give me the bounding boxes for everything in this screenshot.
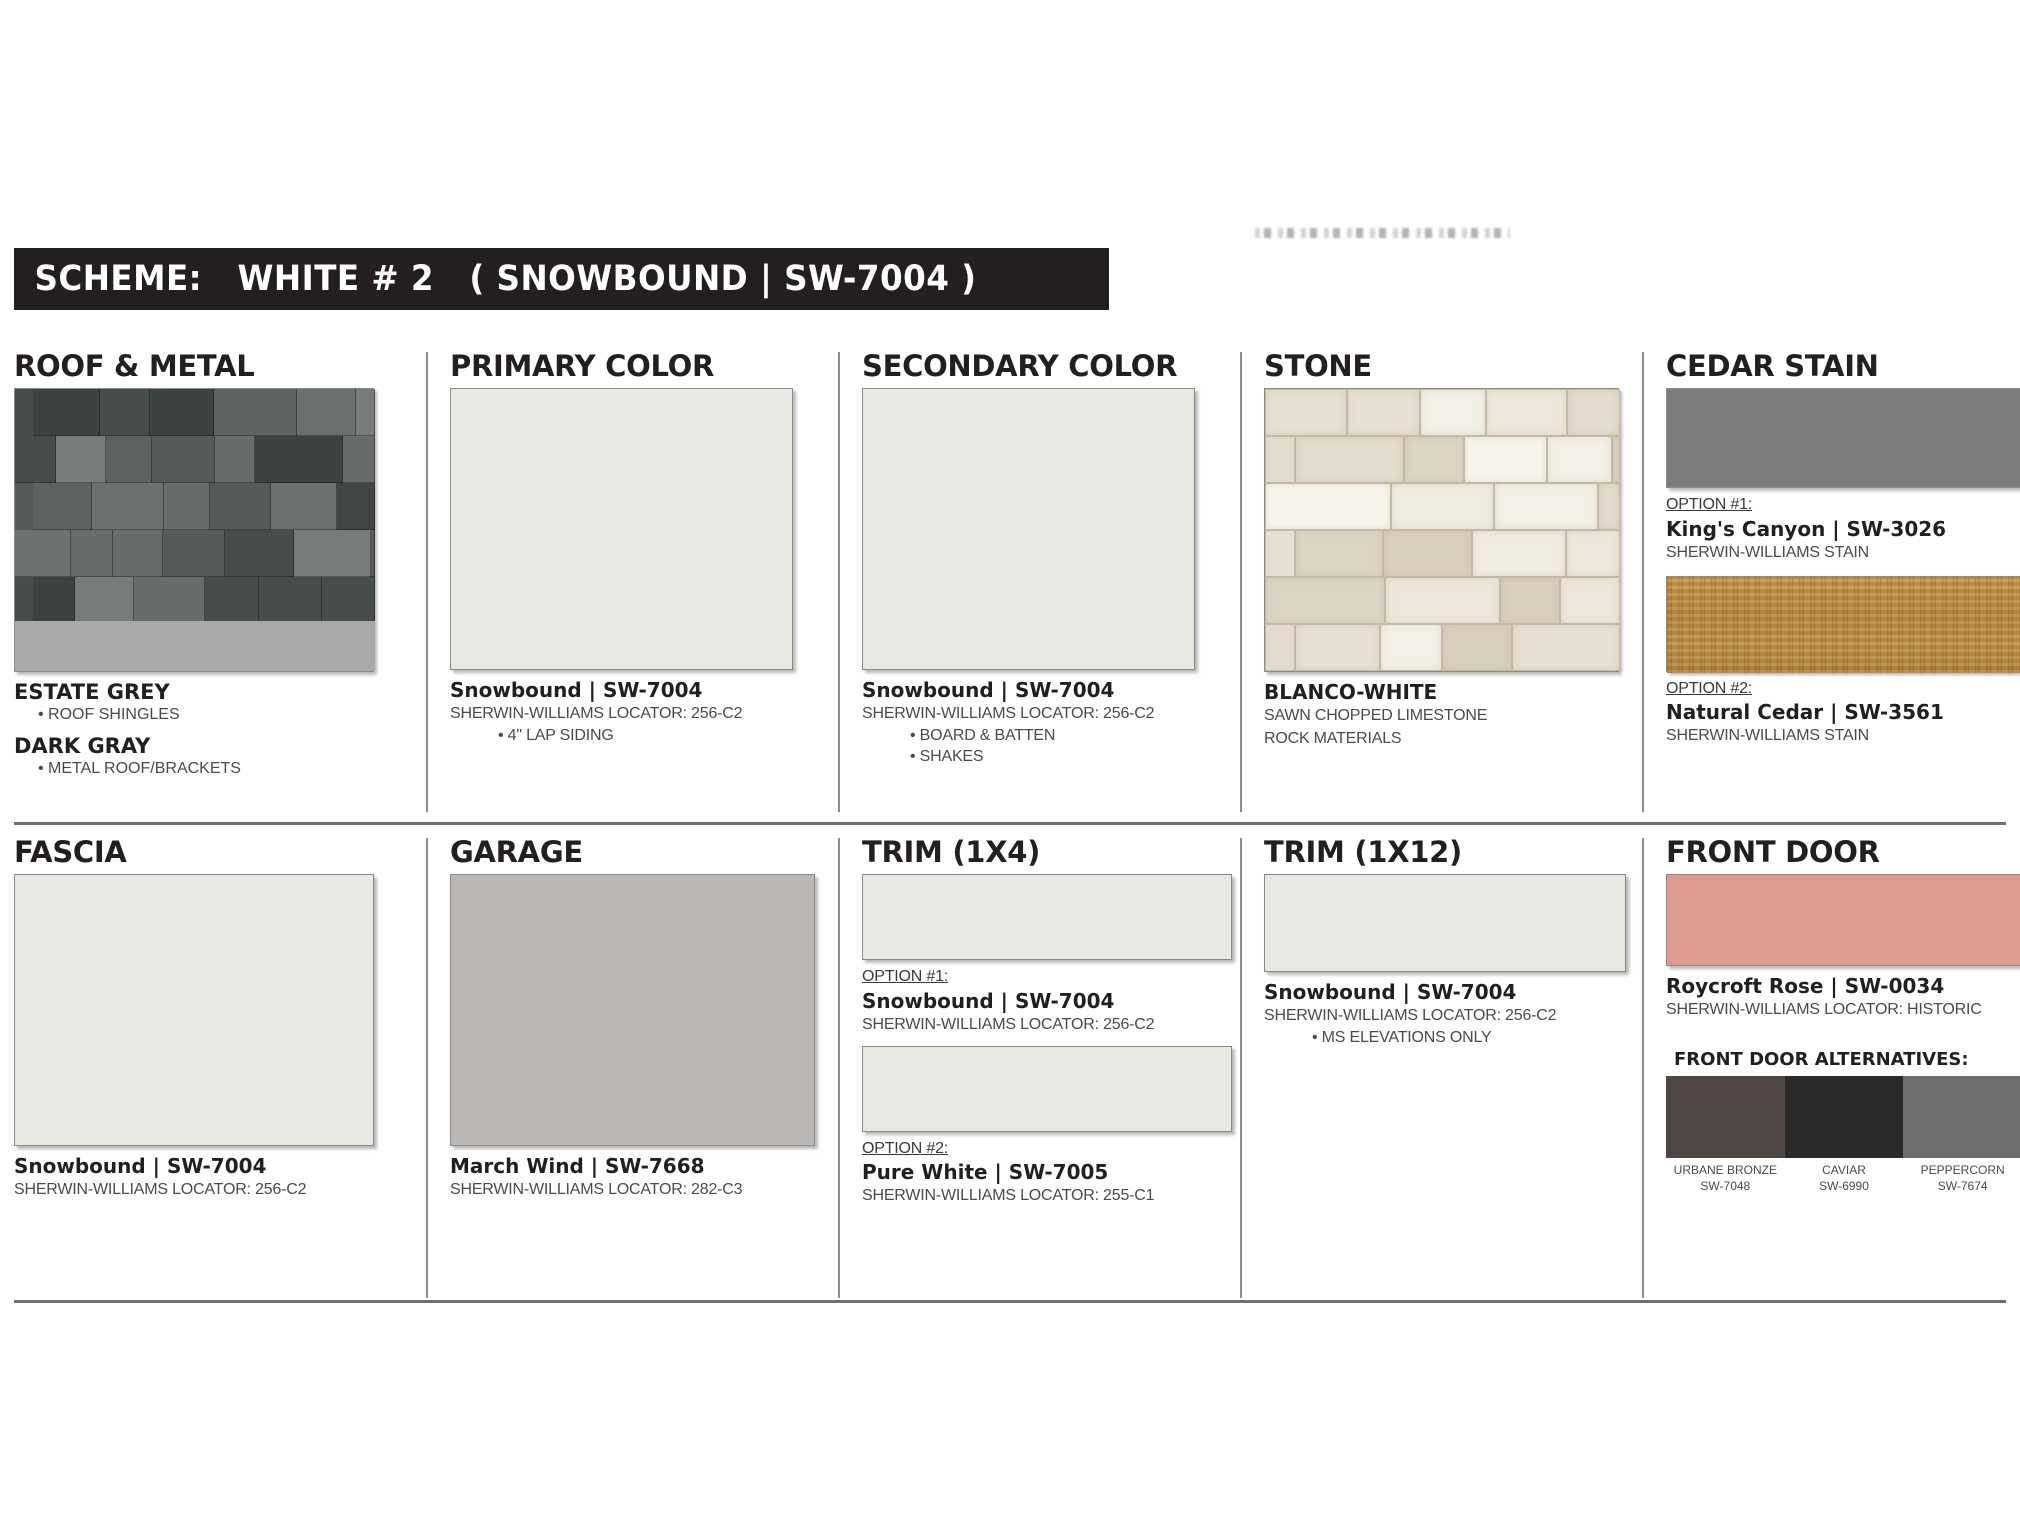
metal-color-name: DARK GRAY (14, 735, 424, 758)
cedar-stain-option1-label: OPTION #1: (1666, 495, 2006, 516)
fascia-color-name: Snowbound | SW-7004 (14, 1155, 424, 1178)
alt-label-urbane-bronze: URBANE BRONZE SW-7048 (1666, 1162, 1785, 1194)
alt-label-caviar: CAVIAR SW-6990 (1785, 1162, 1904, 1194)
trim-1x4-option2-swatch (862, 1046, 1232, 1132)
alt-name-caviar: CAVIAR (1822, 1163, 1866, 1177)
fascia-color-swatch (14, 874, 374, 1146)
trim-1x12-color-name: Snowbound | SW-7004 (1264, 981, 1640, 1004)
section-trim-1x12: TRIM (1X12) Snowbound | SW-7004 SHERWIN-… (1240, 838, 1640, 1298)
front-door-alternatives-strip (1666, 1076, 2020, 1158)
section-title-fascia: FASCIA (14, 838, 424, 867)
section-stone: STONE BLANCO-WHITE SAWN CHOPPED LIMESTON… (1240, 352, 1640, 812)
stone-texture-icon (1264, 388, 1619, 672)
metal-usage-bullet: • METAL ROOF/BRACKETS (14, 758, 424, 780)
roof-usage-bullet: • ROOF SHINGLES (14, 704, 424, 726)
primary-color-locator: SHERWIN-WILLIAMS LOCATOR: 256-C2 (450, 704, 836, 725)
alt-label-peppercorn: PEPPERCORN SW-7674 (1903, 1162, 2020, 1194)
alt-swatch-peppercorn (1903, 1076, 2020, 1158)
section-title-garage: GARAGE (450, 838, 836, 867)
fascia-color-locator: SHERWIN-WILLIAMS LOCATOR: 256-C2 (14, 1180, 424, 1201)
trim-1x4-option2-label: OPTION #2: (862, 1139, 1238, 1160)
alt-code-peppercorn: SW-7674 (1938, 1179, 1988, 1193)
primary-color-bullet-0: • 4" LAP SIDING (450, 725, 836, 747)
alt-code-caviar: SW-6990 (1819, 1179, 1869, 1193)
front-door-color-swatch (1666, 874, 2020, 966)
section-title-trim-1x4: TRIM (1X4) (862, 838, 1238, 867)
metal-roof-swatch (15, 621, 375, 671)
section-front-door: FRONT DOOR Roycroft Rose | SW-0034 SHERW… (1642, 838, 2006, 1298)
garage-color-locator: SHERWIN-WILLIAMS LOCATOR: 282-C3 (450, 1180, 836, 1201)
front-door-alternatives-title: FRONT DOOR ALTERNATIVES: (1666, 1049, 2006, 1070)
section-title-roof-metal: ROOF & METAL (14, 352, 424, 381)
alt-code-urbane-bronze: SW-7048 (1700, 1179, 1750, 1193)
primary-color-swatch (450, 388, 793, 670)
secondary-color-swatch (862, 388, 1195, 670)
trim-1x4-option2-locator: SHERWIN-WILLIAMS LOCATOR: 255-C1 (862, 1186, 1238, 1207)
garage-color-name: March Wind | SW-7668 (450, 1155, 836, 1178)
section-roof-metal: ROOF & METAL ESTATE GREY • ROOF SHINGLES… (14, 352, 424, 812)
trim-1x4-option1-name: Snowbound | SW-7004 (862, 990, 1238, 1013)
secondary-color-bullet-0: • BOARD & BATTEN (862, 725, 1238, 747)
front-door-alternatives-labels: URBANE BRONZE SW-7048 CAVIAR SW-6990 PEP… (1666, 1162, 2020, 1194)
front-door-color-locator: SHERWIN-WILLIAMS LOCATOR: HISTORIC (1666, 1000, 2006, 1021)
section-fascia: FASCIA Snowbound | SW-7004 SHERWIN-WILLI… (14, 838, 424, 1298)
stone-name: BLANCO-WHITE (1264, 681, 1640, 704)
roof-color-name: ESTATE GREY (14, 681, 424, 704)
row-divider-bottom (14, 1300, 2006, 1303)
cedar-stain-option2-sub: SHERWIN-WILLIAMS STAIN (1666, 726, 2006, 747)
secondary-color-locator: SHERWIN-WILLIAMS LOCATOR: 256-C2 (862, 704, 1238, 725)
front-door-color-name: Roycroft Rose | SW-0034 (1666, 975, 2006, 998)
section-garage: GARAGE March Wind | SW-7668 SHERWIN-WILL… (426, 838, 836, 1298)
section-secondary-color: SECONDARY COLOR Snowbound | SW-7004 SHER… (838, 352, 1238, 812)
scheme-title-bar: SCHEME: WHITE # 2 ( SNOWBOUND | SW-7004 … (14, 248, 1109, 310)
section-title-primary-color: PRIMARY COLOR (450, 352, 836, 381)
color-scheme-board: SCHEME: WHITE # 2 ( SNOWBOUND | SW-7004 … (0, 0, 2020, 1536)
faint-artifact-text (1255, 228, 1510, 238)
trim-1x4-option1-locator: SHERWIN-WILLIAMS LOCATOR: 256-C2 (862, 1015, 1238, 1036)
primary-color-name: Snowbound | SW-7004 (450, 679, 836, 702)
cedar-stain-option2-label: OPTION #2: (1666, 679, 2006, 700)
section-title-secondary-color: SECONDARY COLOR (862, 352, 1238, 381)
stone-material-line-1: SAWN CHOPPED LIMESTONE (1264, 706, 1640, 727)
cedar-stain-option2-swatch (1666, 576, 2020, 672)
trim-1x12-color-locator: SHERWIN-WILLIAMS LOCATOR: 256-C2 (1264, 1006, 1640, 1027)
section-title-stone: STONE (1264, 352, 1640, 381)
alt-name-urbane-bronze: URBANE BRONZE (1674, 1163, 1777, 1177)
secondary-color-bullet-1: • SHAKES (862, 746, 1238, 768)
section-title-front-door: FRONT DOOR (1666, 838, 2006, 867)
section-title-trim-1x12: TRIM (1X12) (1264, 838, 1640, 867)
cedar-stain-option1-swatch (1666, 388, 2020, 488)
row-primary-materials: ROOF & METAL ESTATE GREY • ROOF SHINGLES… (14, 352, 2006, 812)
stone-material-line-2: ROCK MATERIALS (1264, 729, 1640, 750)
section-title-cedar-stain: CEDAR STAIN (1666, 352, 2006, 381)
trim-1x12-bullet-0: • MS ELEVATIONS ONLY (1264, 1027, 1640, 1049)
cedar-stain-option2-name: Natural Cedar | SW-3561 (1666, 701, 2006, 724)
cedar-stain-option1-sub: SHERWIN-WILLIAMS STAIN (1666, 543, 2006, 564)
row-trim-materials: FASCIA Snowbound | SW-7004 SHERWIN-WILLI… (14, 838, 2006, 1298)
alt-swatch-caviar (1785, 1076, 1904, 1158)
trim-1x12-color-swatch (1264, 874, 1626, 972)
natural-cedar-wood-texture-icon (1667, 577, 2020, 673)
secondary-color-name: Snowbound | SW-7004 (862, 679, 1238, 702)
section-cedar-stain: CEDAR STAIN OPTION #1: King's Canyon | S… (1642, 352, 2006, 812)
trim-1x4-option1-label: OPTION #1: (862, 967, 1238, 988)
section-trim-1x4: TRIM (1X4) OPTION #1: Snowbound | SW-700… (838, 838, 1238, 1298)
garage-color-swatch (450, 874, 815, 1146)
trim-1x4-option1-swatch (862, 874, 1232, 960)
trim-1x4-option2-name: Pure White | SW-7005 (862, 1161, 1238, 1184)
page-title: SCHEME: WHITE # 2 ( SNOWBOUND | SW-7004 … (14, 259, 977, 299)
row-divider-top (14, 822, 2006, 825)
alt-name-peppercorn: PEPPERCORN (1921, 1163, 2005, 1177)
section-primary-color: PRIMARY COLOR Snowbound | SW-7004 SHERWI… (426, 352, 836, 812)
cedar-stain-option1-name: King's Canyon | SW-3026 (1666, 518, 2006, 541)
alt-swatch-urbane-bronze (1666, 1076, 1785, 1158)
roof-shingle-texture-icon (14, 388, 374, 672)
